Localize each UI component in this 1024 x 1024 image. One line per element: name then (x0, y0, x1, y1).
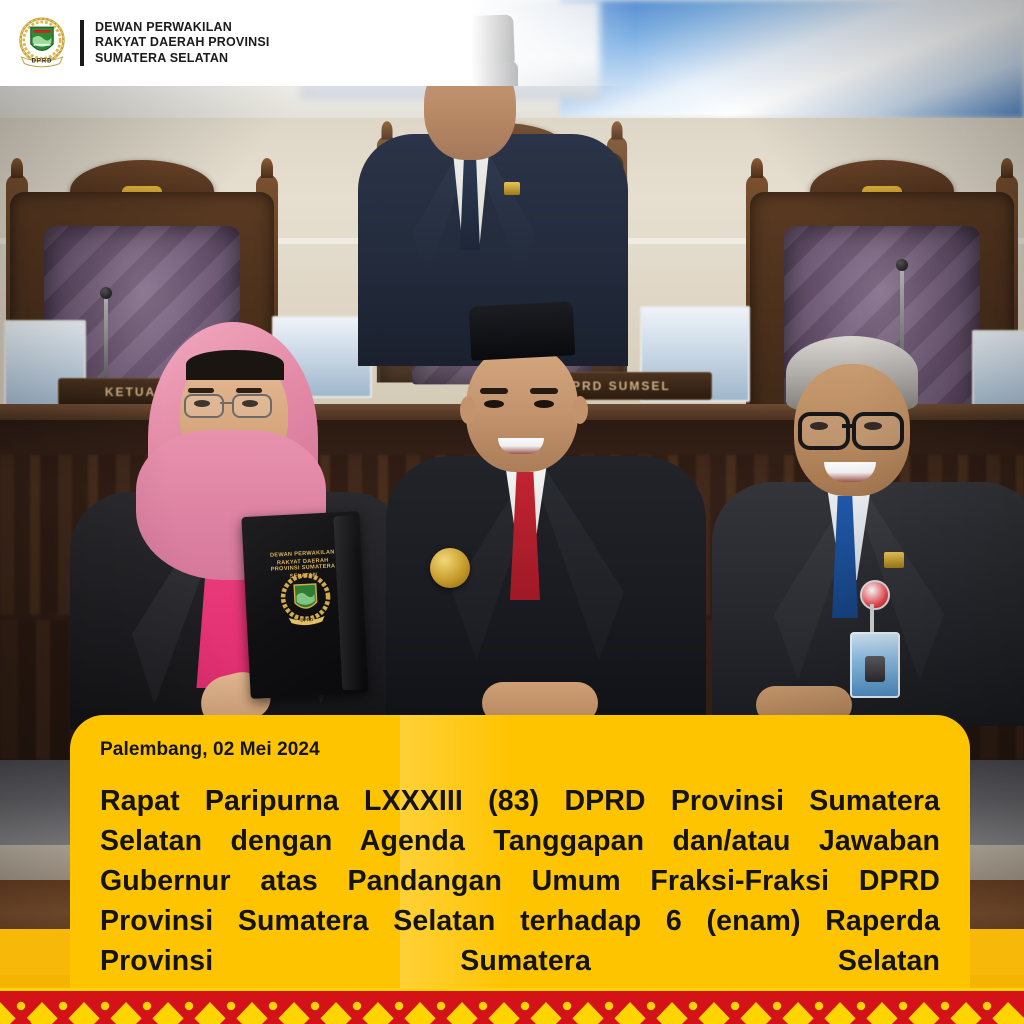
org-line-1: DEWAN PERWAKILAN (95, 20, 270, 36)
eyeglasses-icon (184, 394, 224, 418)
caption-title: Rapat Paripurna LXXXIII (83) DPRD Provin… (100, 781, 940, 1021)
folder-emblem-icon: DPRD (277, 571, 334, 630)
organization-name: DEWAN PERWAKILAN RAKYAT DAERAH PROVINSI … (95, 20, 270, 67)
caption-place-date: Palembang, 02 Mei 2024 (100, 739, 320, 761)
poster-canvas: KETUA DPRD DPRD SUMSEL (0, 0, 1024, 1024)
dprd-sumsel-emblem-icon: DPRD (14, 15, 70, 71)
peci-cap-icon (469, 301, 576, 360)
gold-medallion-icon (430, 548, 470, 588)
lapel-pin-icon (504, 182, 520, 195)
org-line-2: RAKYAT DAERAH PROVINSI (95, 35, 270, 51)
svg-text:DPRD: DPRD (300, 617, 314, 623)
badge-reel-icon (860, 580, 890, 610)
svg-text:DPRD: DPRD (32, 59, 53, 65)
header-divider (80, 20, 84, 66)
org-line-3: SUMATERA SELATAN (95, 51, 270, 67)
caption-panel: Palembang, 02 Mei 2024 Rapat Paripurna L… (0, 715, 1024, 990)
document-folder: DEWAN PERWAKILAN RAKYAT DAERAH PROVINSI … (241, 511, 368, 699)
songket-border (0, 988, 1024, 1024)
person-center-official (398, 300, 698, 720)
header-bar: DPRD DEWAN PERWAKILAN RAKYAT DAERAH PROV… (0, 0, 1024, 86)
lapel-pin-icon (884, 552, 904, 568)
person-right-official (742, 336, 1024, 722)
eyeglasses-icon (798, 412, 850, 450)
id-badge-icon (850, 632, 900, 698)
